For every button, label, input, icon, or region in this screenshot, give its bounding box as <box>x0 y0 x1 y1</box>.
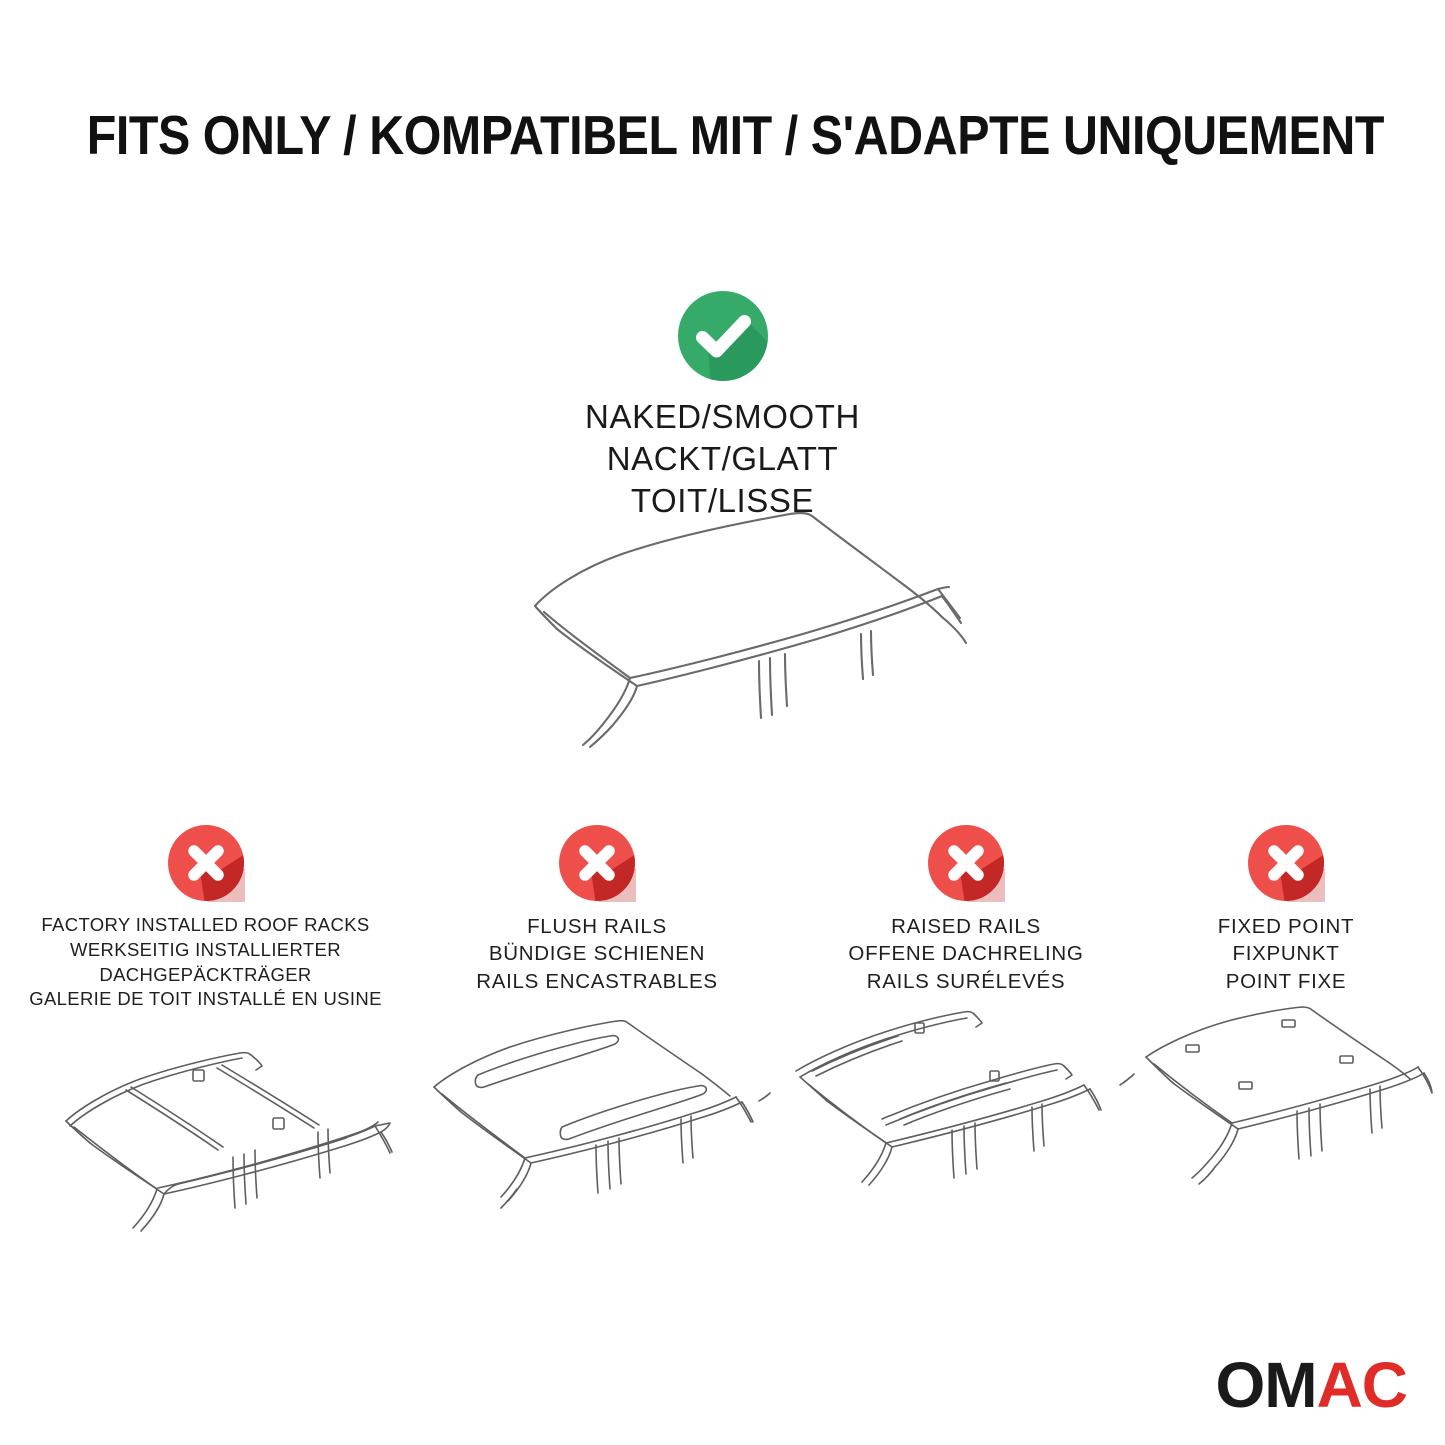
incompatible-label-de: FIXPUNKT <box>1140 940 1432 967</box>
incompatible-label-de: OFFENE DACHRELING <box>782 940 1150 967</box>
incompatible-label-fr: RAILS SURÉLEVÉS <box>782 968 1150 995</box>
incompatible-section: FACTORY INSTALLED ROOF RACKS WERKSEITIG … <box>0 824 1445 1254</box>
incompatible-label-en: FACTORY INSTALLED ROOF RACKS <box>18 913 393 938</box>
logo-text-ac: AC <box>1317 1349 1407 1421</box>
incompatible-labels: FACTORY INSTALLED ROOF RACKS WERKSEITIG … <box>18 913 393 1012</box>
incompatible-labels: FLUSH RAILS BÜNDIGE SCHIENEN RAILS ENCAS… <box>412 913 782 995</box>
check-circle-icon <box>677 290 769 382</box>
incompatible-label-en: FLUSH RAILS <box>412 913 782 940</box>
incompatible-label-fr: GALERIE DE TOIT INSTALLÉ EN USINE <box>18 987 393 1012</box>
incompatible-label-fr: RAILS ENCASTRABLES <box>412 968 782 995</box>
compatible-label-en: NAKED/SMOOTH <box>0 396 1445 438</box>
logo-text-om: OM <box>1215 1349 1316 1421</box>
incompatible-label-de: BÜNDIGE SCHIENEN <box>412 940 782 967</box>
incompatible-label-en: RAISED RAILS <box>782 913 1150 940</box>
omac-logo: OMAC <box>1215 1353 1407 1417</box>
smooth-bare-roof-illustration <box>472 486 1012 756</box>
incompatible-labels: FIXED POINT FIXPUNKT POINT FIXE <box>1140 913 1432 995</box>
incompatible-column-fixed-point: FIXED POINT FIXPUNKT POINT FIXE <box>1140 824 1432 1224</box>
incompatible-column-flush-rails: FLUSH RAILS BÜNDIGE SCHIENEN RAILS ENCAS… <box>412 824 782 1224</box>
incompatible-label-fr: POINT FIXE <box>1140 968 1432 995</box>
incompatible-column-factory-roof-racks: FACTORY INSTALLED ROOF RACKS WERKSEITIG … <box>18 824 393 1241</box>
incompatible-label-de-2: DACHGEPÄCKTRÄGER <box>18 963 393 988</box>
incompatible-labels: RAISED RAILS OFFENE DACHRELING RAILS SUR… <box>782 913 1150 995</box>
incompatible-label-de-1: WERKSEITIG INSTALLIERTER <box>18 938 393 963</box>
fitment-infographic: FITS ONLY / KOMPATIBEL MIT / S'ADAPTE UN… <box>0 0 1445 1445</box>
cross-circle-icon <box>558 824 636 902</box>
incompatible-label-en: FIXED POINT <box>1140 913 1432 940</box>
roof-with-factory-racks-illustration <box>18 1026 393 1241</box>
cross-circle-icon <box>167 824 245 902</box>
roof-with-fixed-points-illustration <box>1140 1009 1432 1224</box>
compatible-label-de: NACKT/GLATT <box>0 438 1445 480</box>
cross-circle-icon <box>927 824 1005 902</box>
cross-circle-icon <box>1247 824 1325 902</box>
incompatible-column-raised-rails: RAISED RAILS OFFENE DACHRELING RAILS SUR… <box>782 824 1150 1224</box>
roof-with-flush-rails-illustration <box>412 1009 782 1224</box>
page-title: FITS ONLY / KOMPATIBEL MIT / S'ADAPTE UN… <box>87 103 1359 167</box>
roof-with-raised-rails-illustration <box>782 1009 1150 1224</box>
